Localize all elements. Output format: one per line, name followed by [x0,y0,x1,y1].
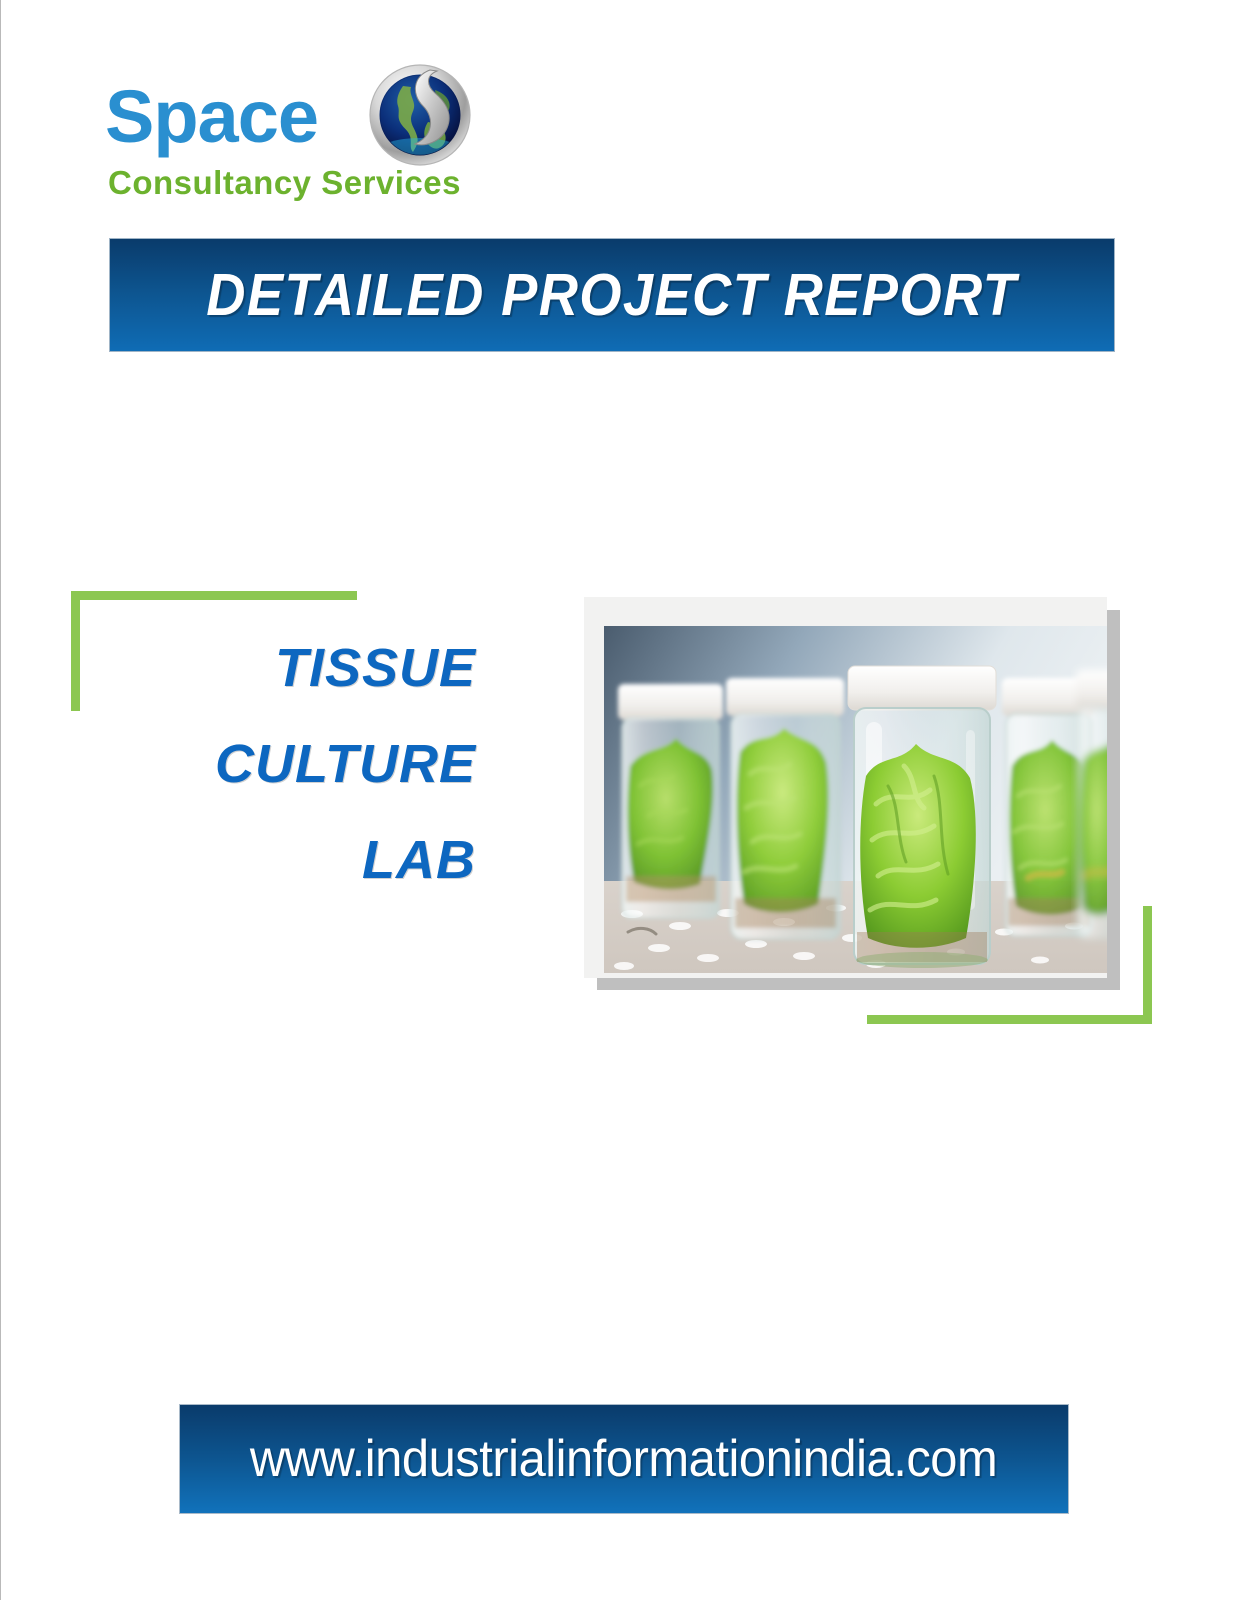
accent-bracket-top-left-vertical [71,591,80,711]
cover-photo [604,626,1107,973]
accent-bracket-bottom-right-horizontal [867,1015,1152,1024]
cover-photo-frame [584,597,1107,978]
logo-brand-secondary: Consultancy Services [108,166,461,199]
accent-bracket-top-left-horizontal [71,591,357,600]
page-title-line-3: LAB [121,812,476,908]
report-type-banner: DETAILED PROJECT REPORT [109,238,1115,352]
logo-brand-primary: Space [105,80,318,154]
page-title: TISSUE CULTURE LAB [121,620,476,908]
website-url[interactable]: www.industrialinformationindia.com [250,1429,997,1489]
report-type-label: DETAILED PROJECT REPORT [207,261,1018,329]
page-title-line-2: CULTURE [121,716,476,812]
website-banner[interactable]: www.industrialinformationindia.com [179,1404,1069,1514]
globe-icon [367,62,473,168]
accent-bracket-bottom-right-vertical [1143,906,1152,1024]
page-title-line-1: TISSUE [121,620,476,716]
company-logo: Space Consultancy Services [105,62,505,212]
cover-page: Space Consultancy Services [0,0,1236,1600]
